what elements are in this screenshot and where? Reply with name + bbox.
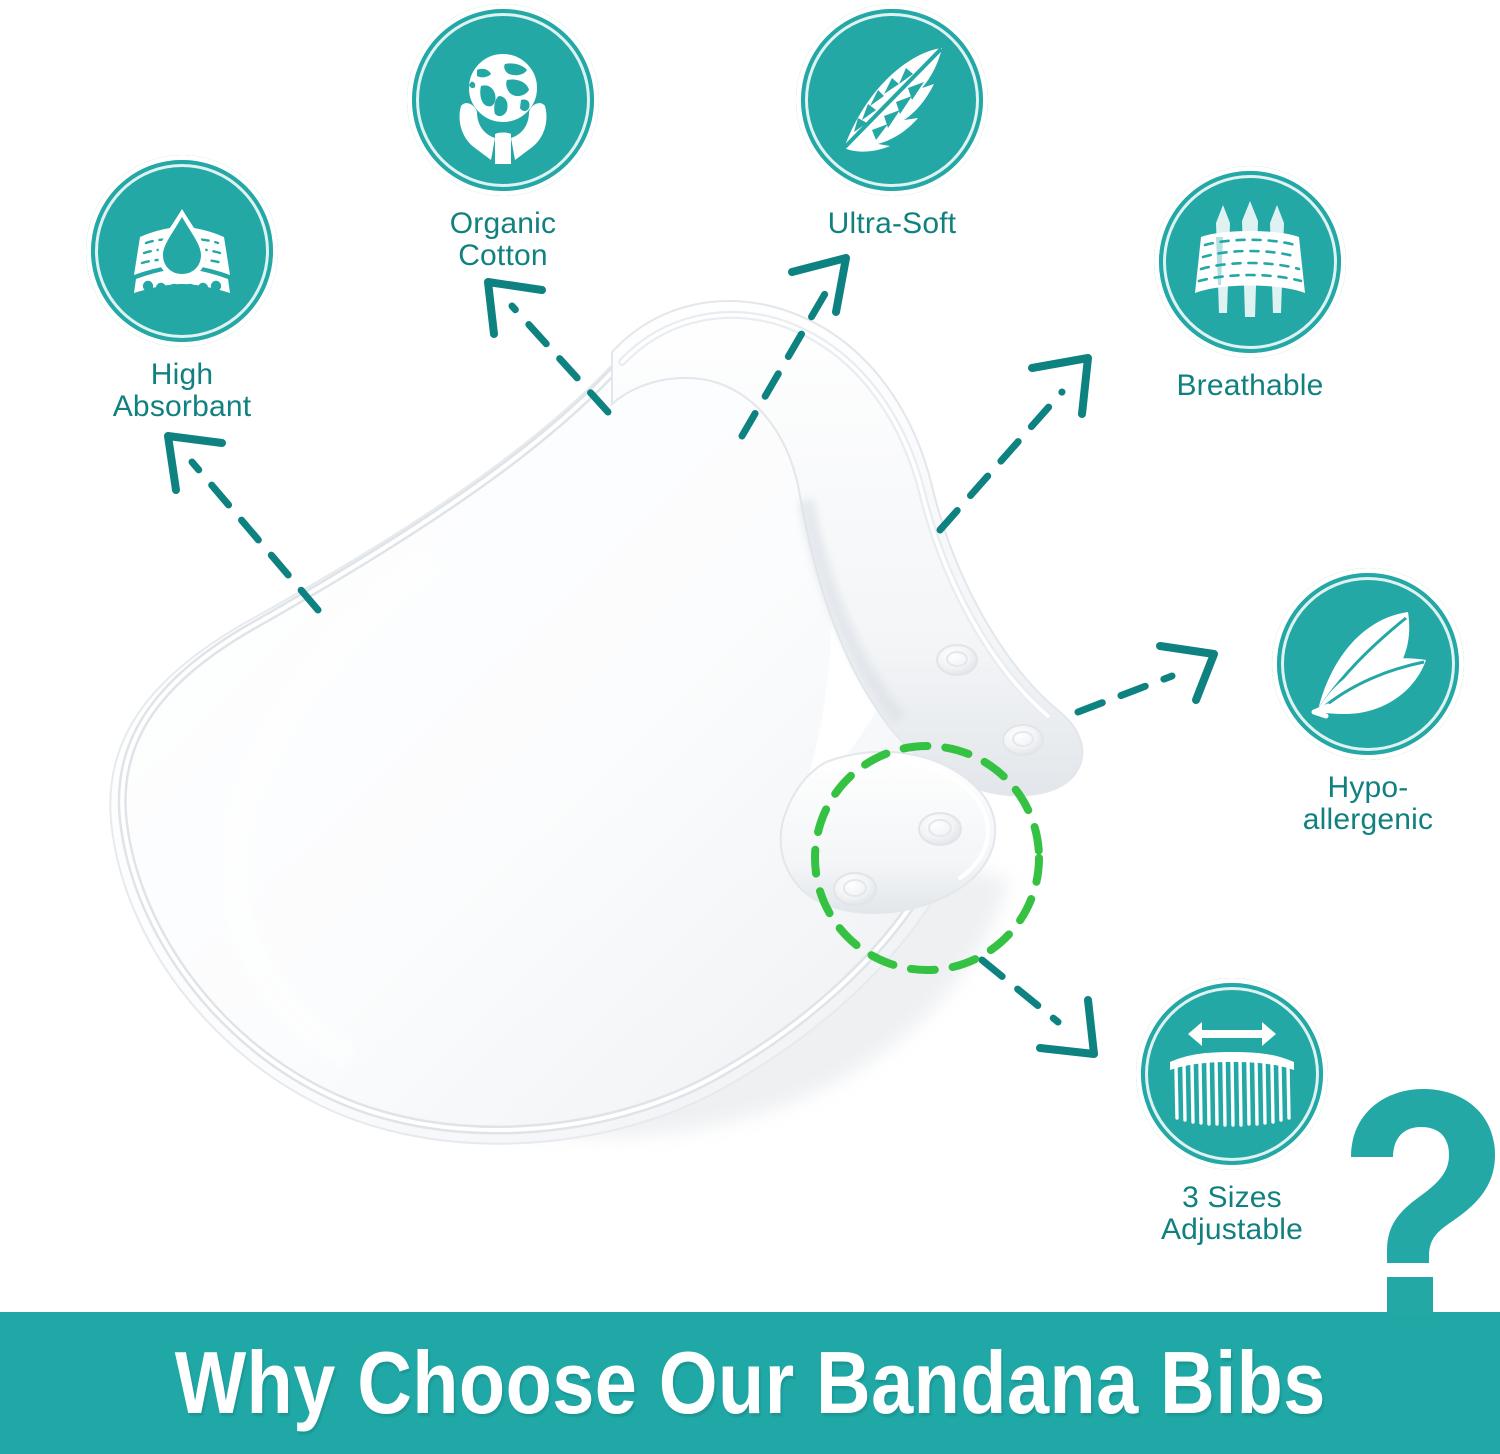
arrow-to-3-sizes-adjustable <box>982 960 1094 1054</box>
arrow-to-organic-cotton <box>488 282 608 412</box>
feature-label: High Absorbant <box>113 359 252 423</box>
snap-buttons-highlight <box>815 746 1039 970</box>
arrow-to-breathable <box>940 358 1088 530</box>
feature-breathable[interactable]: Breathable <box>1110 166 1390 402</box>
adjustable-comb-arrow-icon <box>1136 978 1328 1170</box>
globe-in-hands-icon <box>407 4 599 196</box>
feature-label: 3 Sizes Adjustable <box>1161 1182 1303 1246</box>
feature-label: Ultra-Soft <box>828 208 957 240</box>
feature-organic-cotton[interactable]: Organic Cotton <box>383 4 623 272</box>
strap-snap <box>937 645 977 675</box>
banner-title: Why Choose Our Bandana Bibs <box>174 1332 1325 1434</box>
tab-snap <box>834 873 876 905</box>
feature-label: Hypo- allergenic <box>1303 772 1433 836</box>
strap-snap <box>1003 725 1043 755</box>
arrow-to-ultra-soft <box>742 258 846 436</box>
arrow-to-hypo-allergenic <box>1078 646 1214 712</box>
feature-label: Organic Cotton <box>450 208 556 272</box>
breathable-fabric-airflow-icon <box>1154 166 1346 358</box>
bib-neck-opening <box>660 313 933 800</box>
question-mark-icon <box>1315 1085 1500 1315</box>
infographic-canvas: High Absorbant <box>0 0 1500 1454</box>
bib-shadow <box>200 700 1010 1136</box>
feather-icon <box>796 4 988 196</box>
bib-neck-strap <box>612 301 1082 795</box>
feature-ultra-soft[interactable]: Ultra-Soft <box>762 4 1022 240</box>
feature-label: Breathable <box>1176 370 1323 402</box>
bib-body <box>110 312 969 1144</box>
two-leaves-icon <box>1272 568 1464 760</box>
arrow-to-high-absorbant <box>168 436 318 610</box>
feature-high-absorbant[interactable]: High Absorbant <box>62 155 302 423</box>
feature-hypo-allergenic[interactable]: Hypo- allergenic <box>1238 568 1498 836</box>
bib-snap-tab <box>781 752 996 913</box>
tab-snap <box>919 813 961 845</box>
water-drop-on-fabric-icon <box>86 155 278 347</box>
bottom-banner: Why Choose Our Bandana Bibs <box>0 1312 1500 1454</box>
